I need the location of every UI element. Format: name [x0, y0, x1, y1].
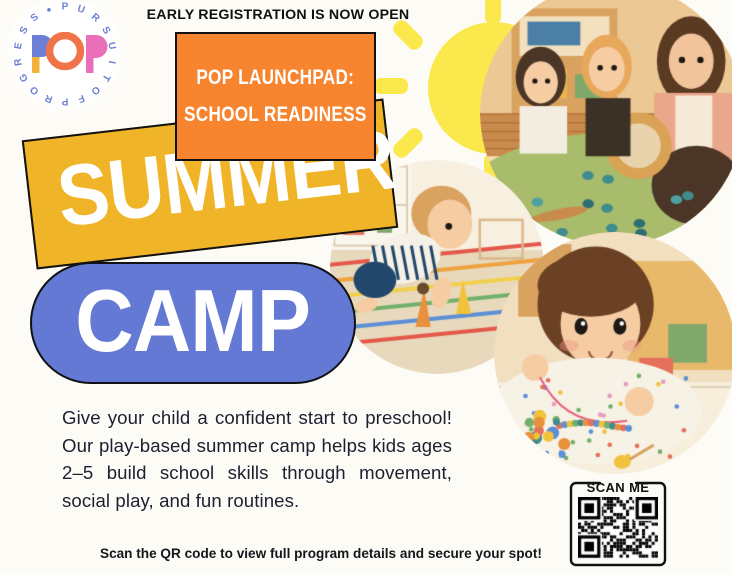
flyer-canvas: PURSUITOFPROGRESS EARLY REGISTRATION IS …: [0, 0, 732, 575]
program-callout-box: POP LAUNCHPAD: SCHOOL READINESS: [175, 32, 376, 161]
qr-label: SCAN ME: [566, 480, 670, 495]
sun-ray: [390, 125, 425, 160]
svg-text:P: P: [61, 96, 68, 107]
pop-logo: PURSUITOFPROGRESS: [2, 0, 128, 114]
qr-code-icon[interactable]: [578, 497, 658, 564]
svg-text:O: O: [28, 83, 41, 97]
body-paragraph: Give your child a confident start to pre…: [62, 404, 452, 514]
program-line-2: SCHOOL READINESS: [184, 103, 367, 127]
svg-text:U: U: [76, 3, 87, 16]
svg-text:F: F: [76, 92, 86, 104]
program-line-1: POP LAUNCHPAD:: [197, 66, 355, 90]
qr-block[interactable]: SCAN ME: [566, 478, 670, 570]
svg-text:P: P: [62, 2, 69, 13]
photo-circle-beading: [494, 232, 732, 474]
sun-ray: [485, 0, 501, 24]
svg-text:S: S: [29, 11, 41, 24]
header-announcement: EARLY REGISTRATION IS NOW OPEN: [128, 7, 428, 23]
svg-text:R: R: [43, 92, 54, 105]
sun-ray: [374, 78, 408, 94]
title-line-camp: CAMP: [30, 262, 356, 384]
cta-text: Scan the QR code to view full program de…: [100, 546, 570, 561]
svg-text:R: R: [89, 11, 102, 25]
logo-wordmark: [2, 32, 128, 76]
title-camp-text: CAMP: [76, 270, 311, 372]
svg-text:O: O: [89, 83, 102, 97]
